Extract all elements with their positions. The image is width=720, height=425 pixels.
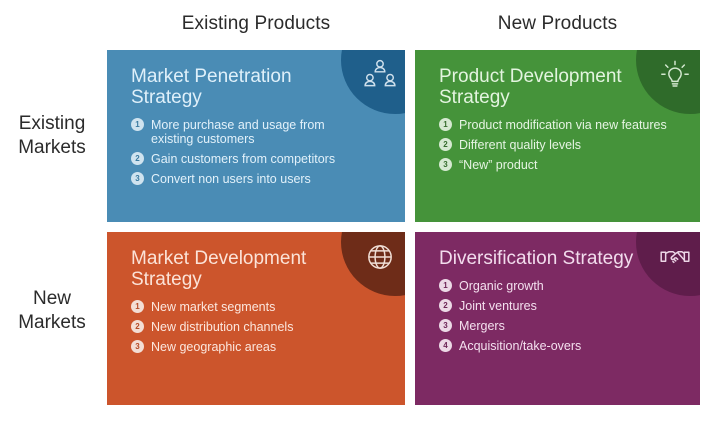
list-item: 1 Organic growth	[439, 279, 682, 293]
quadrant-bullet-list: 1 Product modification via new features …	[439, 118, 682, 172]
bullet-text: New geographic areas	[151, 340, 363, 354]
bullet-text: Convert non users into users	[151, 172, 363, 186]
quadrant-bullet-list: 1 New market segments 2 New distribution…	[131, 300, 387, 354]
quadrant-product-development[interactable]: Product Development Strategy 1 Product m…	[415, 50, 700, 222]
bullet-number: 2	[439, 299, 452, 312]
bullet-text: Acquisition/take-overs	[459, 339, 671, 353]
row-label-new-markets: New Markets	[0, 287, 104, 335]
list-item: 3 “New” product	[439, 158, 682, 172]
quadrant-bullet-list: 1 Organic growth 2 Joint ventures 3 Merg…	[439, 279, 682, 353]
list-item: 3 Mergers	[439, 319, 682, 333]
quadrant-title: Diversification Strategy	[439, 248, 644, 269]
list-item: 1 More purchase and usage from existing …	[131, 118, 387, 146]
bullet-number: 1	[439, 279, 452, 292]
list-item: 1 New market segments	[131, 300, 387, 314]
row-label-existing-markets: Existing Markets	[0, 112, 104, 160]
bullet-number: 1	[131, 118, 144, 131]
bullet-text: Organic growth	[459, 279, 671, 293]
column-header-new-products: New Products	[415, 10, 700, 38]
quadrant-market-penetration[interactable]: Market Penetration Strategy 1 More purch…	[107, 50, 405, 222]
quadrant-title: Market Development Strategy	[131, 248, 336, 290]
list-item: 2 Joint ventures	[439, 299, 682, 313]
bullet-number: 3	[131, 172, 144, 185]
list-item: 2 Different quality levels	[439, 138, 682, 152]
bullet-number: 3	[439, 319, 452, 332]
bullet-number: 1	[131, 300, 144, 313]
quadrant-diversification[interactable]: Diversification Strategy 1 Organic growt…	[415, 232, 700, 405]
bullet-text: Joint ventures	[459, 299, 671, 313]
row-label-new-markets-line2: Markets	[0, 311, 104, 335]
list-item: 4 Acquisition/take-overs	[439, 339, 682, 353]
list-item: 3 Convert non users into users	[131, 172, 387, 186]
quadrant-title: Product Development Strategy	[439, 66, 644, 108]
bullet-number: 2	[131, 152, 144, 165]
quadrant-bullet-list: 1 More purchase and usage from existing …	[131, 118, 387, 186]
row-label-new-markets-line1: New	[0, 287, 104, 311]
bullet-text: Gain customers from competitors	[151, 152, 363, 166]
list-item: 2 Gain customers from competitors	[131, 152, 387, 166]
bullet-text: New market segments	[151, 300, 363, 314]
list-item: 3 New geographic areas	[131, 340, 387, 354]
bullet-number: 1	[439, 118, 452, 131]
quadrant-market-development[interactable]: Market Development Strategy 1 New market…	[107, 232, 405, 405]
bullet-number: 4	[439, 339, 452, 352]
list-item: 2 New distribution channels	[131, 320, 387, 334]
bullet-number: 2	[439, 138, 452, 151]
bullet-number: 3	[439, 158, 452, 171]
bullet-text: Mergers	[459, 319, 671, 333]
row-label-existing-markets-line2: Markets	[0, 136, 104, 160]
bullet-text: “New” product	[459, 158, 671, 172]
bullet-text: Product modification via new features	[459, 118, 671, 132]
bullet-text: New distribution channels	[151, 320, 363, 334]
column-header-existing-products: Existing Products	[107, 10, 405, 38]
bullet-number: 2	[131, 320, 144, 333]
bullet-number: 3	[131, 340, 144, 353]
quadrant-title: Market Penetration Strategy	[131, 66, 336, 108]
ansoff-matrix-diagram: Existing Products New Products Existing …	[0, 0, 720, 425]
list-item: 1 Product modification via new features	[439, 118, 682, 132]
row-label-existing-markets-line1: Existing	[0, 112, 104, 136]
bullet-text: Different quality levels	[459, 138, 671, 152]
bullet-text: More purchase and usage from existing cu…	[151, 118, 363, 146]
